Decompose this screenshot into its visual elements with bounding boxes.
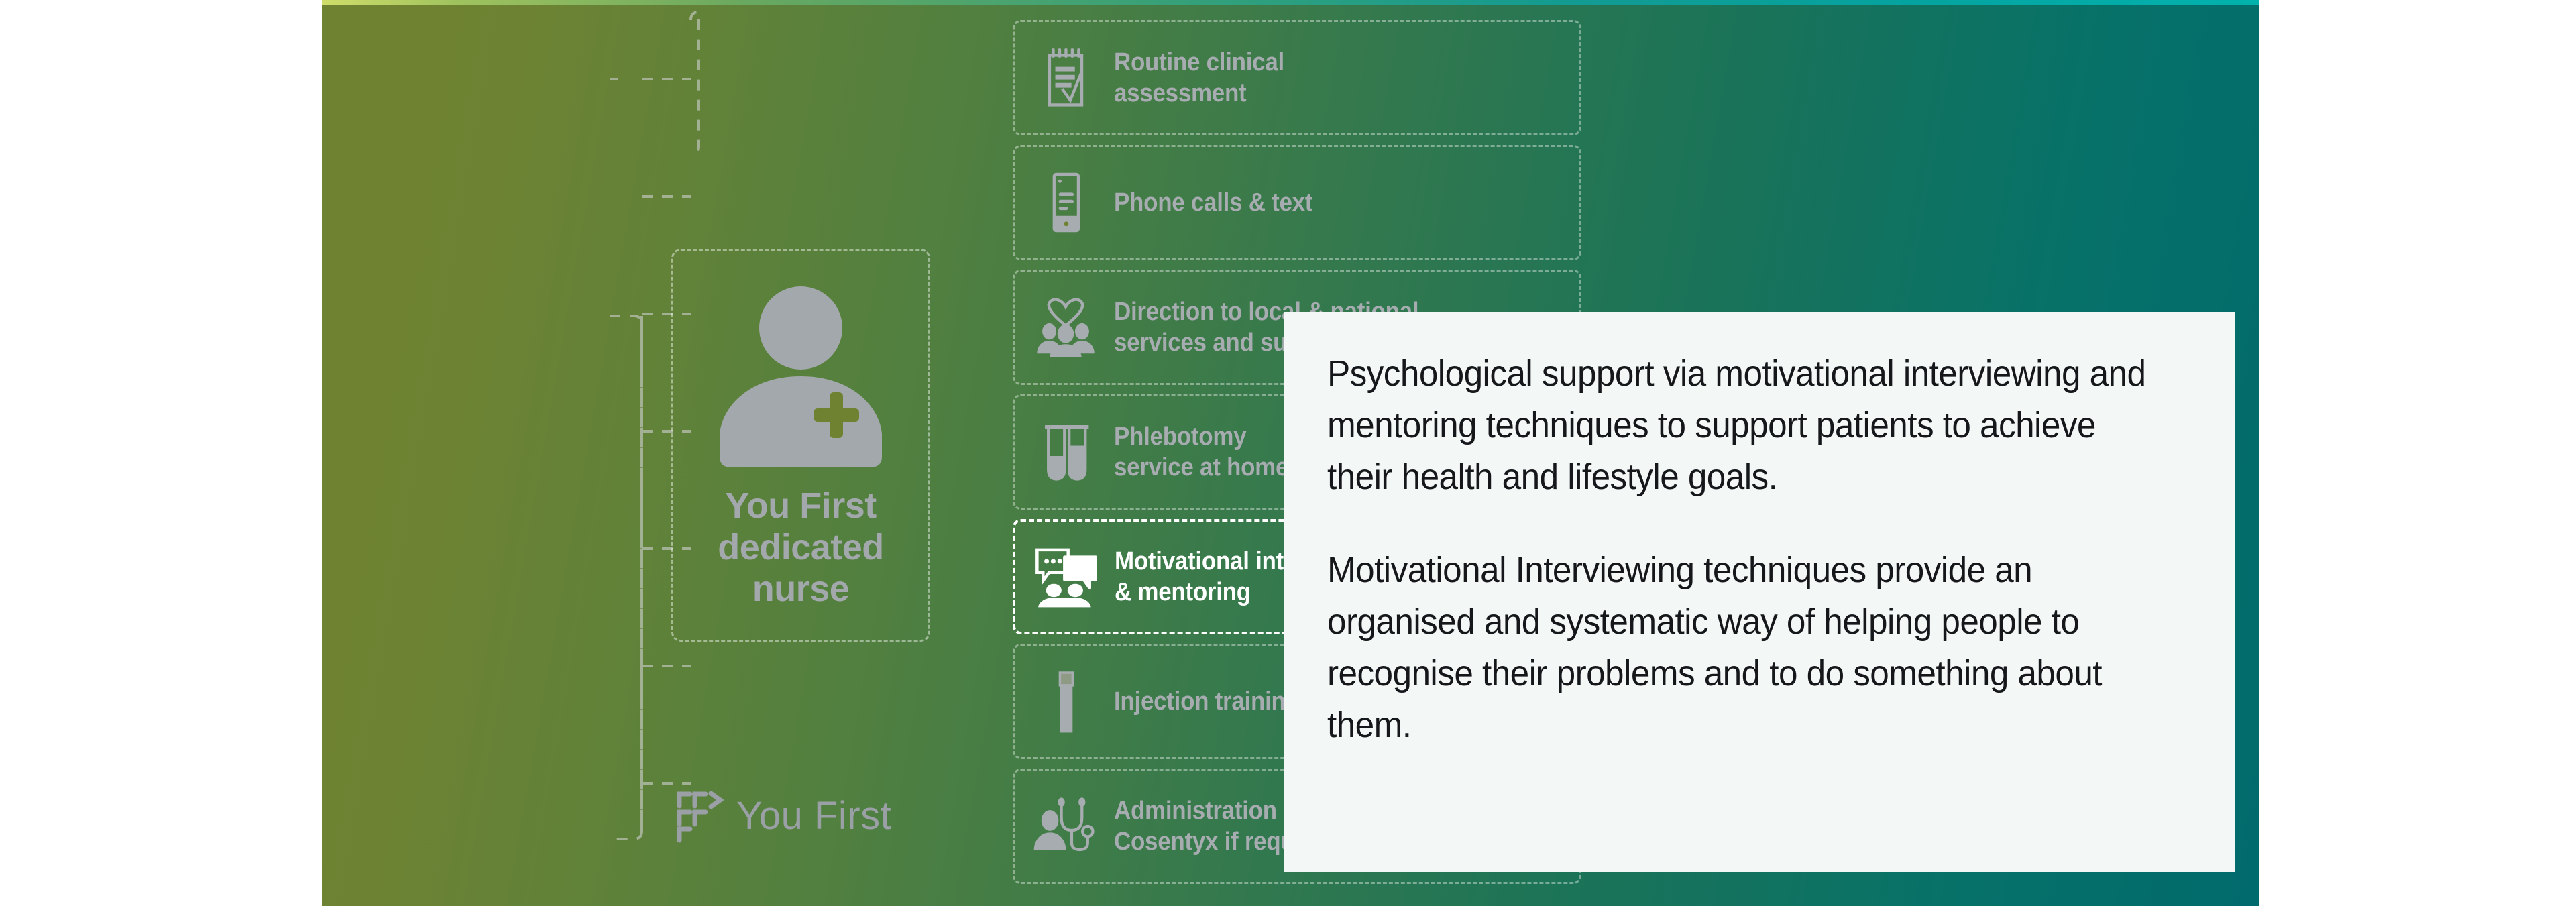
hub-caption-line2: dedicated [718,527,884,567]
hub-nurse-card[interactable]: You First dedicated nurse [671,249,930,642]
infographic-canvas: You First dedicated nurse You First [0,0,2576,906]
speech-bubbles-people-icon [1030,536,1103,617]
service-card-label: Phone calls & text [1114,187,1312,218]
top-accent-rule [322,0,2259,5]
mobile-phone-icon [1029,162,1102,243]
injection-pen-icon [1029,661,1102,742]
tooltip-paragraph-2: Motivational Interviewing techniques pro… [1327,545,2149,751]
service-card-label: Phlebotomyservice at home [1114,421,1288,483]
stethoscope-patient-icon [1029,786,1102,866]
you-first-logo: You First [676,788,891,843]
notepad-checklist-icon [1029,38,1102,118]
tooltip-paragraph-1: Psychological support via motivational i… [1327,348,2149,503]
nurse-avatar-icon [710,274,891,475]
heart-people-group-icon [1029,287,1102,367]
detail-tooltip-panel: Psychological support via motivational i… [1284,312,2235,872]
service-card-routine-clinical-assessment[interactable]: Routine clinicalassessment [1013,20,1581,135]
hub-caption-line1: You First [725,486,877,526]
service-card-label: Routine clinicalassessment [1114,47,1284,109]
hub-caption-line3: nurse [752,569,850,609]
hub-caption: You First dedicated nurse [718,485,884,610]
service-card-phone-calls-text[interactable]: Phone calls & text [1013,145,1581,260]
you-first-logo-text: You First [736,793,891,838]
blood-test-tubes-icon [1029,412,1102,492]
you-first-logo-mark [676,788,724,843]
service-card-label: Injection training [1114,686,1300,717]
